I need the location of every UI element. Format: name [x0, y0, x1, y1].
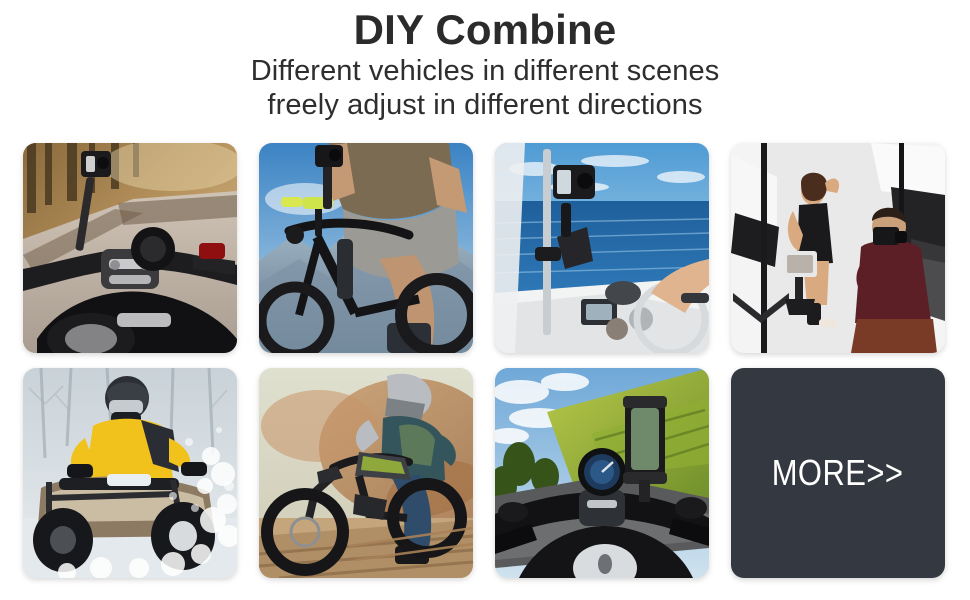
page-subtitle-line-2: freely adjust in different directions: [0, 88, 970, 122]
motorcycle-phone-image: [495, 368, 709, 578]
page-subtitle-line-1: Different vehicles in different scenes: [0, 54, 970, 88]
atv-snow-image: [23, 368, 237, 578]
boat-helm-image: [495, 143, 709, 353]
photo-studio-image: [731, 143, 945, 353]
gallery-tile-dirt-bike[interactable]: [259, 368, 473, 578]
dirt-bike-image: [259, 368, 473, 578]
gallery-tile-atv-snow[interactable]: [23, 368, 237, 578]
gallery-tile-boat-helm[interactable]: [495, 143, 709, 353]
motorcycle-pov-image: [23, 143, 237, 353]
more-tile-button[interactable]: MORE>>: [731, 368, 945, 578]
gallery-tile-mountain-bike[interactable]: [259, 143, 473, 353]
page-title: DIY Combine: [0, 6, 970, 54]
gallery-grid: MORE>>: [23, 143, 947, 573]
page-header: DIY Combine Different vehicles in differ…: [0, 0, 970, 122]
gallery-tile-motorcycle-phone[interactable]: [495, 368, 709, 578]
gallery-tile-photo-studio[interactable]: [731, 143, 945, 353]
more-tile-label: MORE>>: [772, 452, 904, 494]
mountain-bike-image: [259, 143, 473, 353]
gallery-tile-motorcycle-pov[interactable]: [23, 143, 237, 353]
